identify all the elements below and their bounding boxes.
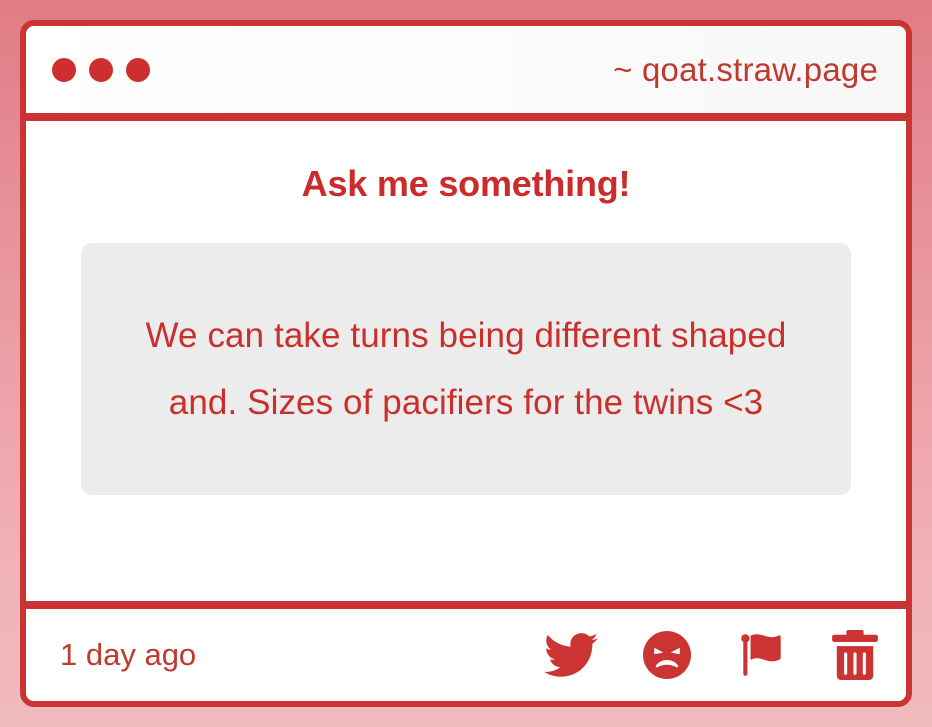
trash-icon	[832, 629, 878, 681]
twitter-share-button[interactable]	[544, 632, 598, 678]
page-title: Ask me something!	[302, 163, 631, 205]
content-area: Ask me something! We can take turns bein…	[26, 121, 906, 601]
flag-icon	[736, 629, 788, 681]
close-dot-icon[interactable]	[52, 58, 76, 82]
angry-face-icon	[642, 630, 692, 680]
timestamp-label: 1 day ago	[60, 637, 196, 673]
delete-button[interactable]	[832, 629, 878, 681]
angry-react-button[interactable]	[642, 630, 692, 680]
url-label[interactable]: ~ qoat.straw.page	[613, 51, 878, 89]
footer-bar: 1 day ago	[26, 609, 906, 701]
footer-divider	[26, 601, 906, 609]
traffic-lights	[52, 58, 150, 82]
report-flag-button[interactable]	[736, 629, 788, 681]
minimize-dot-icon[interactable]	[89, 58, 113, 82]
message-box: We can take turns being different shaped…	[81, 243, 851, 495]
browser-card: ~ qoat.straw.page Ask me something! We c…	[20, 20, 912, 707]
action-buttons	[544, 629, 878, 681]
title-bar: ~ qoat.straw.page	[26, 26, 906, 113]
message-text: We can take turns being different shaped…	[115, 302, 817, 436]
twitter-icon	[544, 632, 598, 678]
header-divider	[26, 113, 906, 121]
maximize-dot-icon[interactable]	[126, 58, 150, 82]
